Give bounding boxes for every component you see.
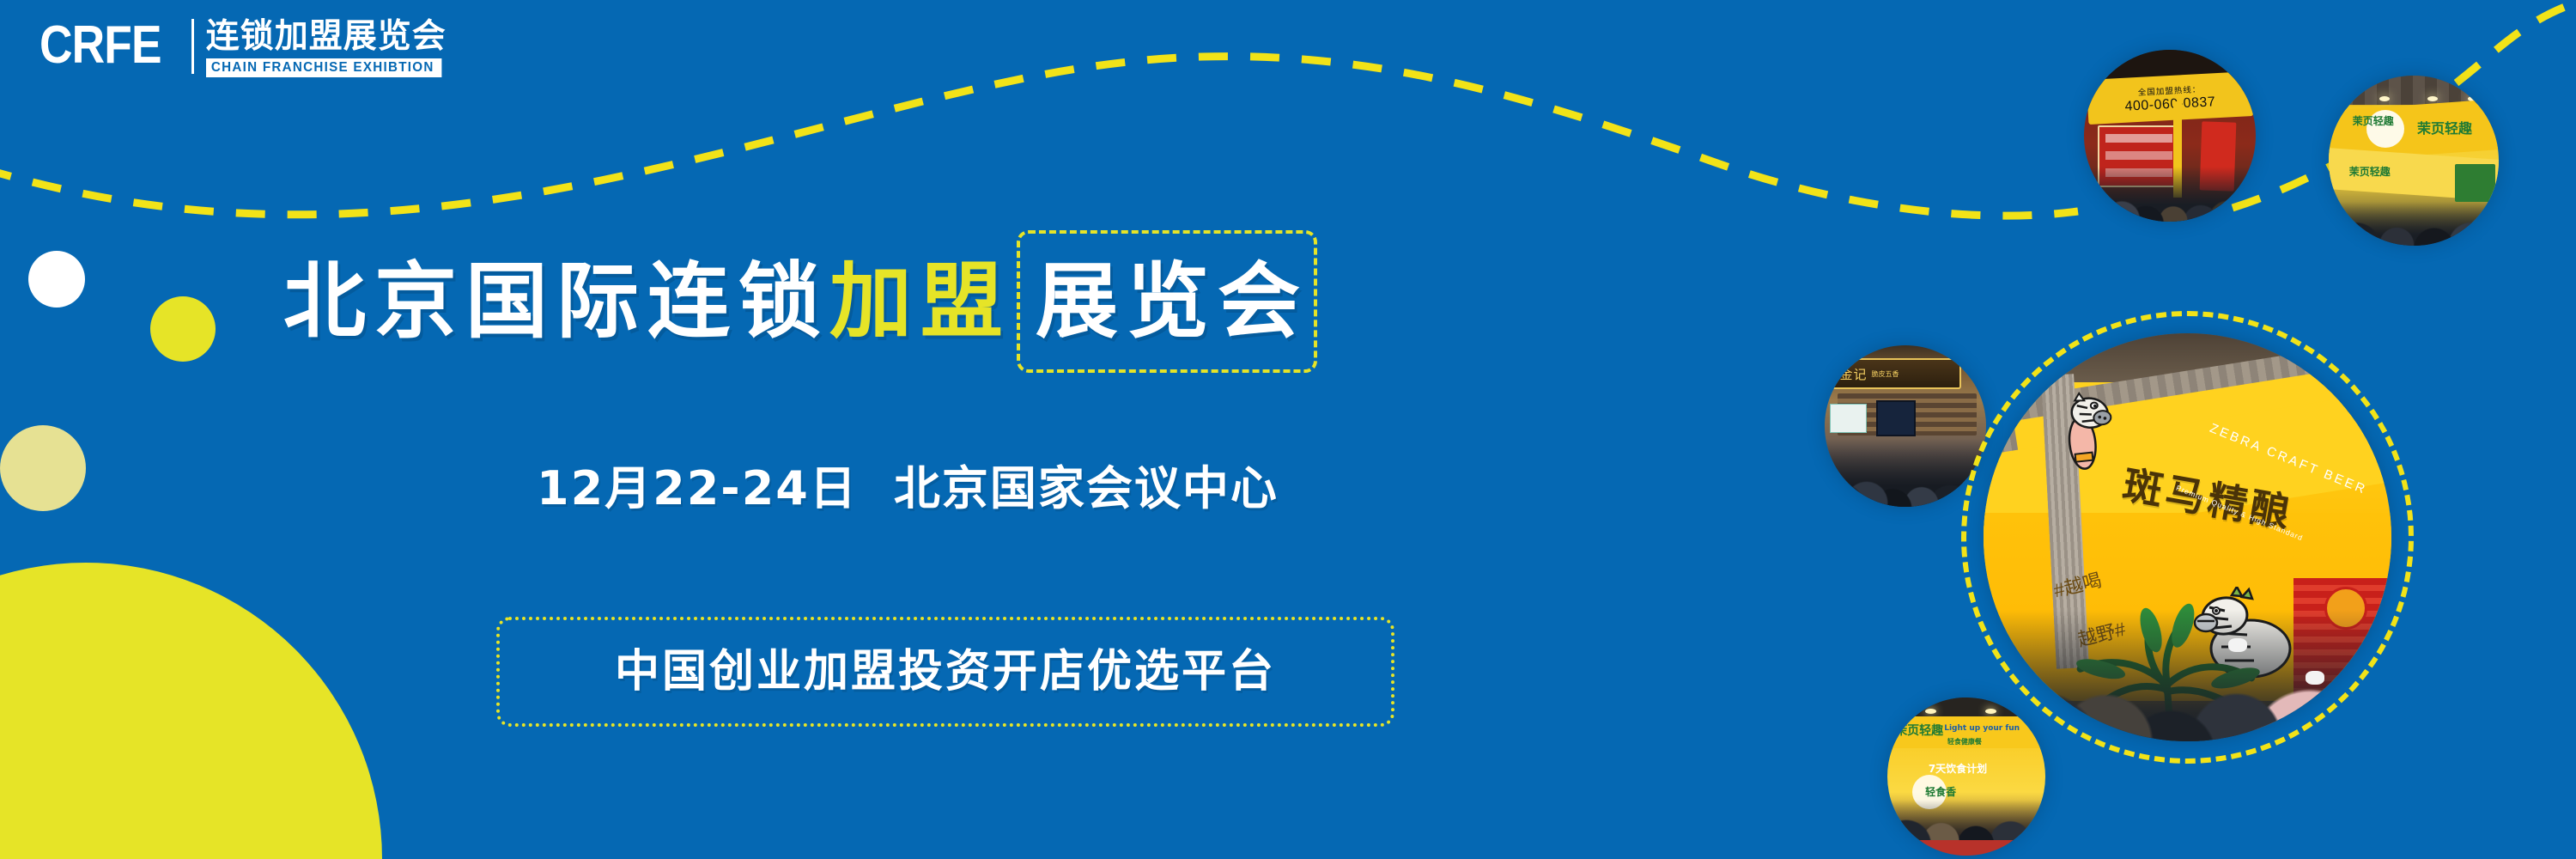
tagline-box: 中国创业加盟投资开店优选平台 xyxy=(496,617,1394,727)
crfe-logo[interactable]: CRFE 连锁加盟展览会 CHAIN FRANCHISE EXHIBTION xyxy=(39,19,447,76)
booth-brand-text: 金记 xyxy=(1840,365,1868,383)
booth-slogan-cn: 轻食健康餐 xyxy=(1947,737,1982,746)
logo-english-name: CHAIN FRANCHISE EXHIBTION xyxy=(206,58,441,77)
tagline-text: 中国创业加盟投资开店优选平台 xyxy=(615,646,1276,698)
event-dates: 12月22-24日 xyxy=(537,461,858,515)
booth-brand-text: 茉页轻趣 xyxy=(2353,113,2394,128)
visitor-crowd xyxy=(1984,603,2391,742)
menu-board xyxy=(1830,404,1867,433)
decor-pale-yellow-dot xyxy=(0,425,86,511)
booth-brand-text: 茉页轻趣 xyxy=(2417,117,2472,137)
ceiling-lamp-icon xyxy=(2427,96,2438,101)
visitor-crowd xyxy=(2084,167,2256,222)
headline-boxed: 展览会 xyxy=(1017,230,1317,373)
decor-yellow-dot xyxy=(150,296,216,362)
visitor-crowd xyxy=(1887,789,2045,844)
hotline-sign: 全国加盟热线： 400-060-0837 xyxy=(2087,71,2253,125)
headline-part-1: 北京国际连锁 xyxy=(283,254,829,349)
booth-subtitle-text: 脆皮五香 xyxy=(1872,369,1899,379)
logo-text-block: 连锁加盟展览会 CHAIN FRANCHISE EXHIBTION xyxy=(206,19,447,77)
chicken-booth-scene: 全国加盟热线： 400-060-0837 xyxy=(2084,50,2256,222)
neighbour-green-booth xyxy=(2455,164,2496,202)
headline-highlight: 加盟 xyxy=(829,254,1012,349)
crfe-exhibition-banner: CRFE 连锁加盟展览会 CHAIN FRANCHISE EXHIBTION 北… xyxy=(0,0,2576,859)
zebra-booth-scene: Premium Quality & High Standard 斑马精酿 ZEB… xyxy=(1984,333,2391,741)
photo-zebra-craft-beer-booth[interactable]: Premium Quality & High Standard 斑马精酿 ZEB… xyxy=(1984,333,2391,741)
visitor-crowd xyxy=(2329,202,2499,246)
booth-brand-text: 茉页轻趣 xyxy=(2349,164,2391,179)
visitor-crowd xyxy=(1825,439,1986,507)
photo-gold-booth[interactable]: 金记 脆皮五香 xyxy=(1825,345,1986,507)
logo-acronym: CRFE xyxy=(39,19,161,72)
logo-divider xyxy=(191,19,194,74)
decor-white-dot xyxy=(28,251,85,308)
booth-plan-text: 7天饮食计划 xyxy=(1929,761,1987,776)
decor-large-yellow-disc xyxy=(0,563,382,859)
booth-brand-text: 茉页轻趣 xyxy=(1895,722,1943,739)
face-mask-icon xyxy=(2306,671,2324,685)
event-venue: 北京国家会议中心 xyxy=(894,461,1279,515)
red-carpet xyxy=(1887,840,2045,856)
photo-chicken-booth[interactable]: 全国加盟热线： 400-060-0837 xyxy=(2084,50,2256,222)
light-meal-booth-scene: 茉页轻趣 茉页轻趣 茉页轻趣 xyxy=(2329,76,2499,246)
photo-light-meal-booth-top[interactable]: 茉页轻趣 茉页轻趣 茉页轻趣 xyxy=(2329,76,2499,246)
page-title: 北京国际连锁 加盟 展览会 xyxy=(283,230,1317,373)
display-screen xyxy=(1876,400,1915,436)
gold-booth-scene: 金记 脆皮五香 xyxy=(1825,345,1986,507)
gold-signboard: 金记 脆皮五香 xyxy=(1832,358,1961,389)
event-dateline: 12月22-24日北京国家会议中心 xyxy=(537,462,1279,515)
logo-chinese-name: 连锁加盟展览会 xyxy=(206,19,447,55)
zebra-mascot-icon xyxy=(2057,387,2120,475)
ceiling-lamp-icon xyxy=(2379,96,2390,101)
face-mask-icon xyxy=(2228,638,2247,652)
ceiling-lamp-icon xyxy=(1925,709,1936,714)
